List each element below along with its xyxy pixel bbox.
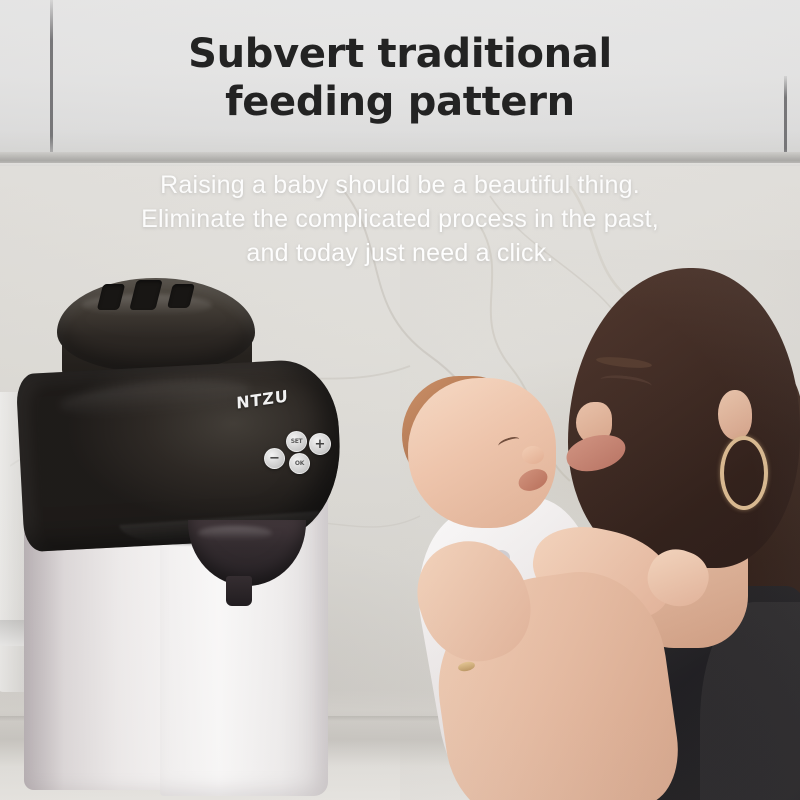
hoop-earring — [720, 436, 768, 510]
milk-dispenser-machine — [0, 270, 400, 800]
plus-button-label: + — [315, 438, 326, 451]
plus-button[interactable]: + — [309, 433, 331, 455]
baby-nose — [522, 446, 544, 464]
mother-ear — [718, 390, 752, 440]
mode-button-bottom-label: OK — [295, 461, 304, 467]
subheadline: Raising a baby should be a beautiful thi… — [0, 168, 800, 270]
product-banner: NTZU − SET OK + Subvert traditional feed… — [0, 0, 800, 800]
headline: Subvert traditional feeding pattern — [0, 30, 800, 126]
mode-button-bottom[interactable]: OK — [289, 453, 310, 474]
minus-button-label: − — [269, 452, 280, 465]
subheadline-line-1: Raising a baby should be a beautiful thi… — [0, 168, 800, 202]
minus-button[interactable]: − — [264, 448, 285, 469]
subheadline-line-3: and today just need a click. — [0, 236, 800, 270]
dispenser-funnel-gloss — [198, 526, 272, 540]
mother-and-baby-photo — [400, 250, 800, 800]
dispenser-spout — [226, 576, 252, 606]
headline-line-2: feeding pattern — [0, 78, 800, 126]
headline-line-1: Subvert traditional — [188, 31, 612, 77]
mode-button-top-label: SET — [291, 439, 303, 445]
mode-button-top[interactable]: SET — [286, 431, 307, 452]
subheadline-line-2: Eliminate the complicated process in the… — [0, 202, 800, 236]
